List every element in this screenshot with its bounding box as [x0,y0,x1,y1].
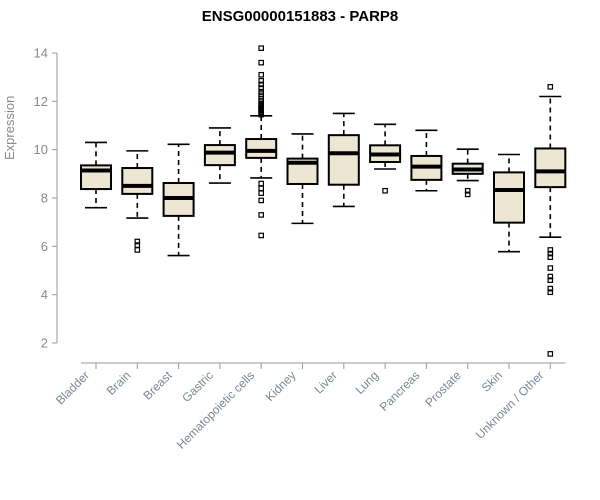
boxplot-box [370,124,400,193]
outlier-point [259,198,263,202]
boxplot-box [494,155,524,252]
y-tick-label: 4 [41,287,48,302]
boxplot-box [288,134,318,223]
boxplot-box [411,130,441,190]
outlier-point [259,60,263,64]
x-axis [81,363,565,369]
outlier-point [548,352,552,356]
outlier-point [259,181,263,185]
y-tick-label: 8 [41,191,48,206]
outlier-point [259,213,263,217]
x-tick-label: Lung [352,368,381,397]
x-tick-label: Bladder [53,368,92,407]
boxplot-box [453,149,483,196]
outlier-point [259,233,263,237]
outlier-point [135,248,139,252]
box-series [81,46,565,356]
x-tick-label: Liver [312,368,340,396]
y-tick-label: 10 [34,142,48,157]
x-axis-tick-labels: BladderBrainBreastGastricHematopoietic c… [53,368,546,452]
y-axis: 2468101214 [34,46,57,351]
x-tick-label: Prostate [422,368,464,410]
y-tick-label: 12 [34,94,48,109]
y-tick-label: 14 [34,46,48,61]
outlier-point [548,85,552,89]
y-tick-label: 6 [41,239,48,254]
outlier-point [259,73,263,77]
outlier-point [383,189,387,193]
boxplot-box [205,128,235,183]
outlier-point [259,186,263,190]
y-tick-label: 2 [41,336,48,351]
boxplot-box [164,144,194,255]
x-tick-label: Gastric [179,368,216,405]
x-tick-label: Breast [140,368,175,403]
x-tick-label: Hematopoietic cells [174,368,257,451]
x-tick-label: Skin [479,368,505,394]
x-tick-label: Kidney [263,368,299,404]
boxplot-box [81,142,111,207]
outlier-point [259,191,263,195]
boxplot-box [122,151,152,252]
x-tick-label: Pancreas [377,368,423,414]
outlier-point [548,266,552,270]
plot-area: 2468101214 BladderBrainBreastGastricHema… [0,0,600,500]
boxplot-box [246,46,276,238]
boxplot-box [329,113,359,206]
boxplot-chart: ENSG00000151883 - PARP8 Expression 24681… [0,0,600,500]
x-tick-label: Brain [104,368,134,398]
boxplot-box [535,85,565,356]
outlier-point [259,46,263,50]
